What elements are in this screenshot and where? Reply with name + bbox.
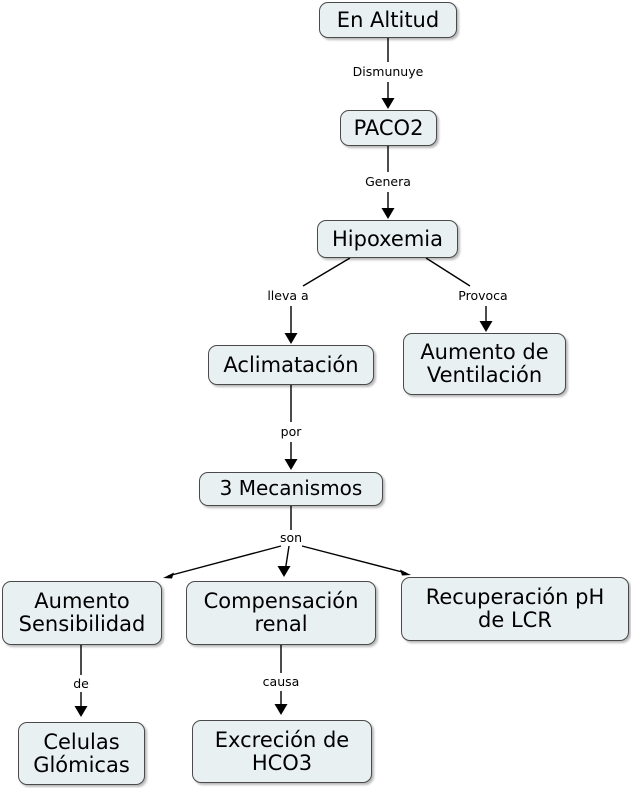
node-label-aumento-sensibilidad: Aumento Sensibilidad	[9, 590, 155, 635]
edge-label-provoca: Provoca	[458, 290, 507, 303]
node-paco2[interactable]: PACO2	[340, 110, 437, 146]
node-label-recuperacion-ph: Recuperación pH de LCR	[408, 586, 622, 631]
node-label-aumento-ventilacion: Aumento de Ventilación	[410, 341, 559, 386]
node-label-en-altitud: En Altitud	[326, 9, 450, 32]
arrowhead	[278, 566, 291, 577]
arrowhead	[163, 573, 174, 579]
node-aclimatacion[interactable]: Aclimatación	[208, 345, 374, 385]
arrowhead	[382, 98, 395, 109]
edge-label-son-left: son	[280, 532, 302, 545]
concept-map-canvas: En AltitudPACO2HipoxemiaAclimataciónAume…	[0, 0, 631, 788]
arrowhead	[285, 333, 298, 344]
node-recuperacion-ph[interactable]: Recuperación pH de LCR	[401, 577, 629, 641]
edge-label-genera: Genera	[365, 176, 411, 189]
edge-tres-mecanismos-to-compensacion-renal	[278, 546, 291, 577]
node-en-altitud[interactable]: En Altitud	[319, 2, 457, 38]
node-aumento-ventilacion[interactable]: Aumento de Ventilación	[403, 333, 566, 395]
node-celulas-glomicas[interactable]: Celulas Glómicas	[18, 722, 145, 785]
node-hipoxemia[interactable]: Hipoxemia	[317, 220, 458, 258]
arrowhead	[285, 459, 298, 470]
arrowhead	[480, 321, 493, 332]
edge-label-de: de	[73, 678, 89, 691]
node-label-tres-mecanismos: 3 Mecanismos	[206, 478, 376, 500]
arrowhead	[275, 704, 288, 715]
edge-label-por: por	[281, 426, 302, 439]
edge-tres-mecanismos-to-recuperacion-ph	[302, 546, 411, 576]
node-label-compensacion-renal: Compensación renal	[193, 590, 369, 635]
node-compensacion-renal[interactable]: Compensación renal	[186, 581, 376, 645]
node-aumento-sensibilidad[interactable]: Aumento Sensibilidad	[2, 581, 162, 645]
node-label-hipoxemia: Hipoxemia	[324, 228, 451, 251]
arrowhead	[400, 570, 411, 576]
node-label-aclimatacion: Aclimatación	[215, 354, 367, 377]
node-excrecion-hco3[interactable]: Excreción de HCO3	[192, 720, 372, 783]
node-label-paco2: PACO2	[347, 117, 430, 140]
edge-label-causa: causa	[263, 676, 300, 689]
edge-label-dismunuye: Dismunuye	[353, 66, 424, 79]
arrowhead	[75, 706, 88, 717]
node-label-celulas-glomicas: Celulas Glómicas	[25, 731, 138, 776]
node-label-excrecion-hco3: Excreción de HCO3	[199, 729, 365, 774]
arrowhead	[382, 208, 395, 219]
node-tres-mecanismos[interactable]: 3 Mecanismos	[199, 472, 383, 506]
edge-tres-mecanismos-to-aumento-sensibilidad	[163, 506, 291, 579]
edge-label-lleva-a: lleva a	[267, 290, 308, 303]
